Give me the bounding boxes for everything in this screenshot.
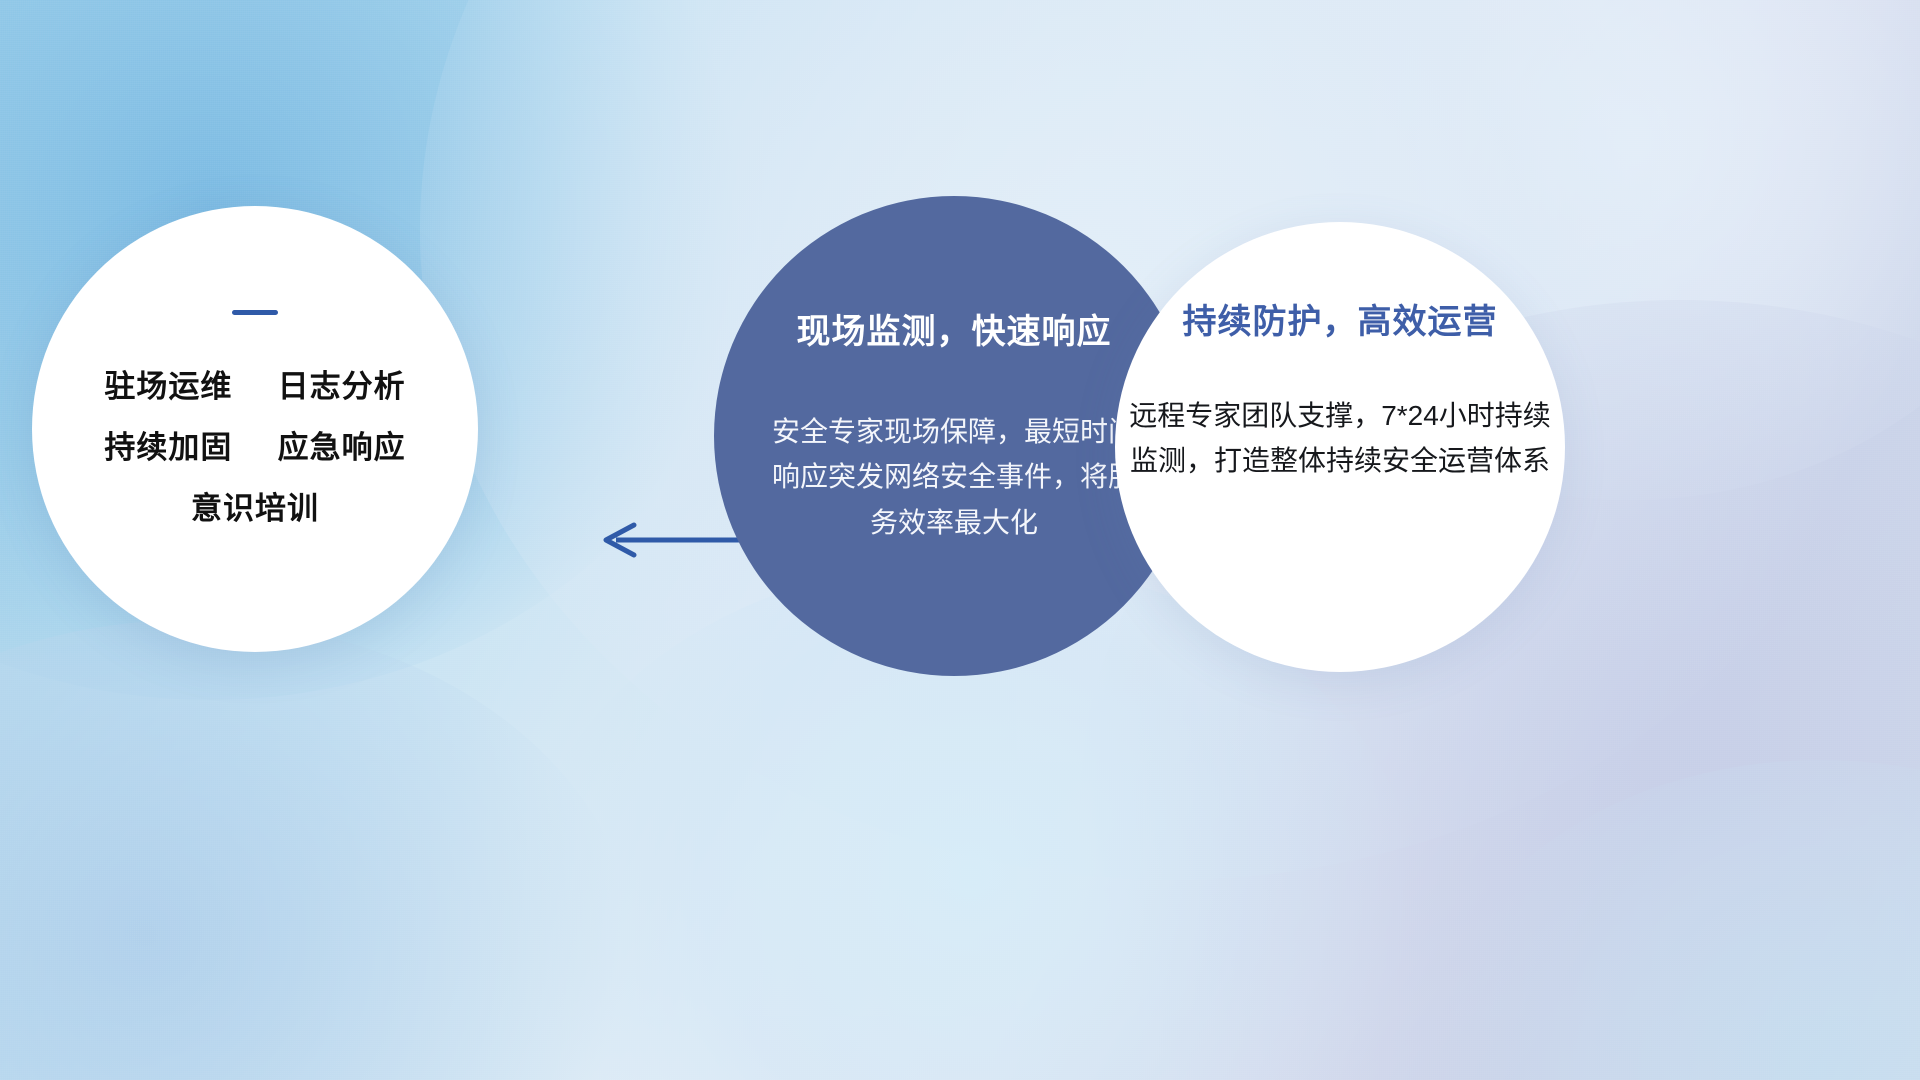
background-wash-bottom-right (1420, 760, 1920, 1080)
left-tag-3: 持续加固 (104, 430, 232, 465)
slide-canvas: 驻场运维 日志分析 持续加固 应急响应 意识培训 现场监测，快速响应 安全专家现… (0, 0, 1920, 1080)
decorative-dash (232, 310, 278, 315)
right-circle-body: 远程专家团队支撑，7*24小时持续监测，打造整体持续安全运营体系 (1129, 393, 1551, 484)
left-circle-card: 驻场运维 日志分析 持续加固 应急响应 意识培训 (32, 206, 478, 652)
left-circle-line-2: 持续加固 应急响应 (66, 432, 444, 463)
background-wash-lower-left (0, 620, 640, 1080)
left-tag-4: 应急响应 (278, 430, 406, 465)
left-tag-5: 意识培训 (191, 491, 319, 526)
left-circle-content: 驻场运维 日志分析 持续加固 应急响应 意识培训 (32, 310, 478, 524)
right-circle-title: 持续防护，高效运营 (1129, 294, 1551, 343)
left-tag-2: 日志分析 (278, 369, 406, 404)
right-circle-card: 持续防护，高效运营 远程专家团队支撑，7*24小时持续监测，打造整体持续安全运营… (1115, 222, 1565, 672)
left-circle-line-3: 意识培训 (66, 493, 444, 524)
right-circle-content: 持续防护，高效运营 远程专家团队支撑，7*24小时持续监测，打造整体持续安全运营… (1095, 294, 1585, 484)
left-circle-line-1: 驻场运维 日志分析 (66, 371, 444, 402)
middle-circle-body: 安全专家现场保障，最短时间响应突发网络安全事件，将服务效率最大化 (770, 409, 1138, 545)
left-tag-1: 驻场运维 (104, 369, 232, 404)
middle-circle-title: 现场监测，快速响应 (770, 304, 1138, 353)
